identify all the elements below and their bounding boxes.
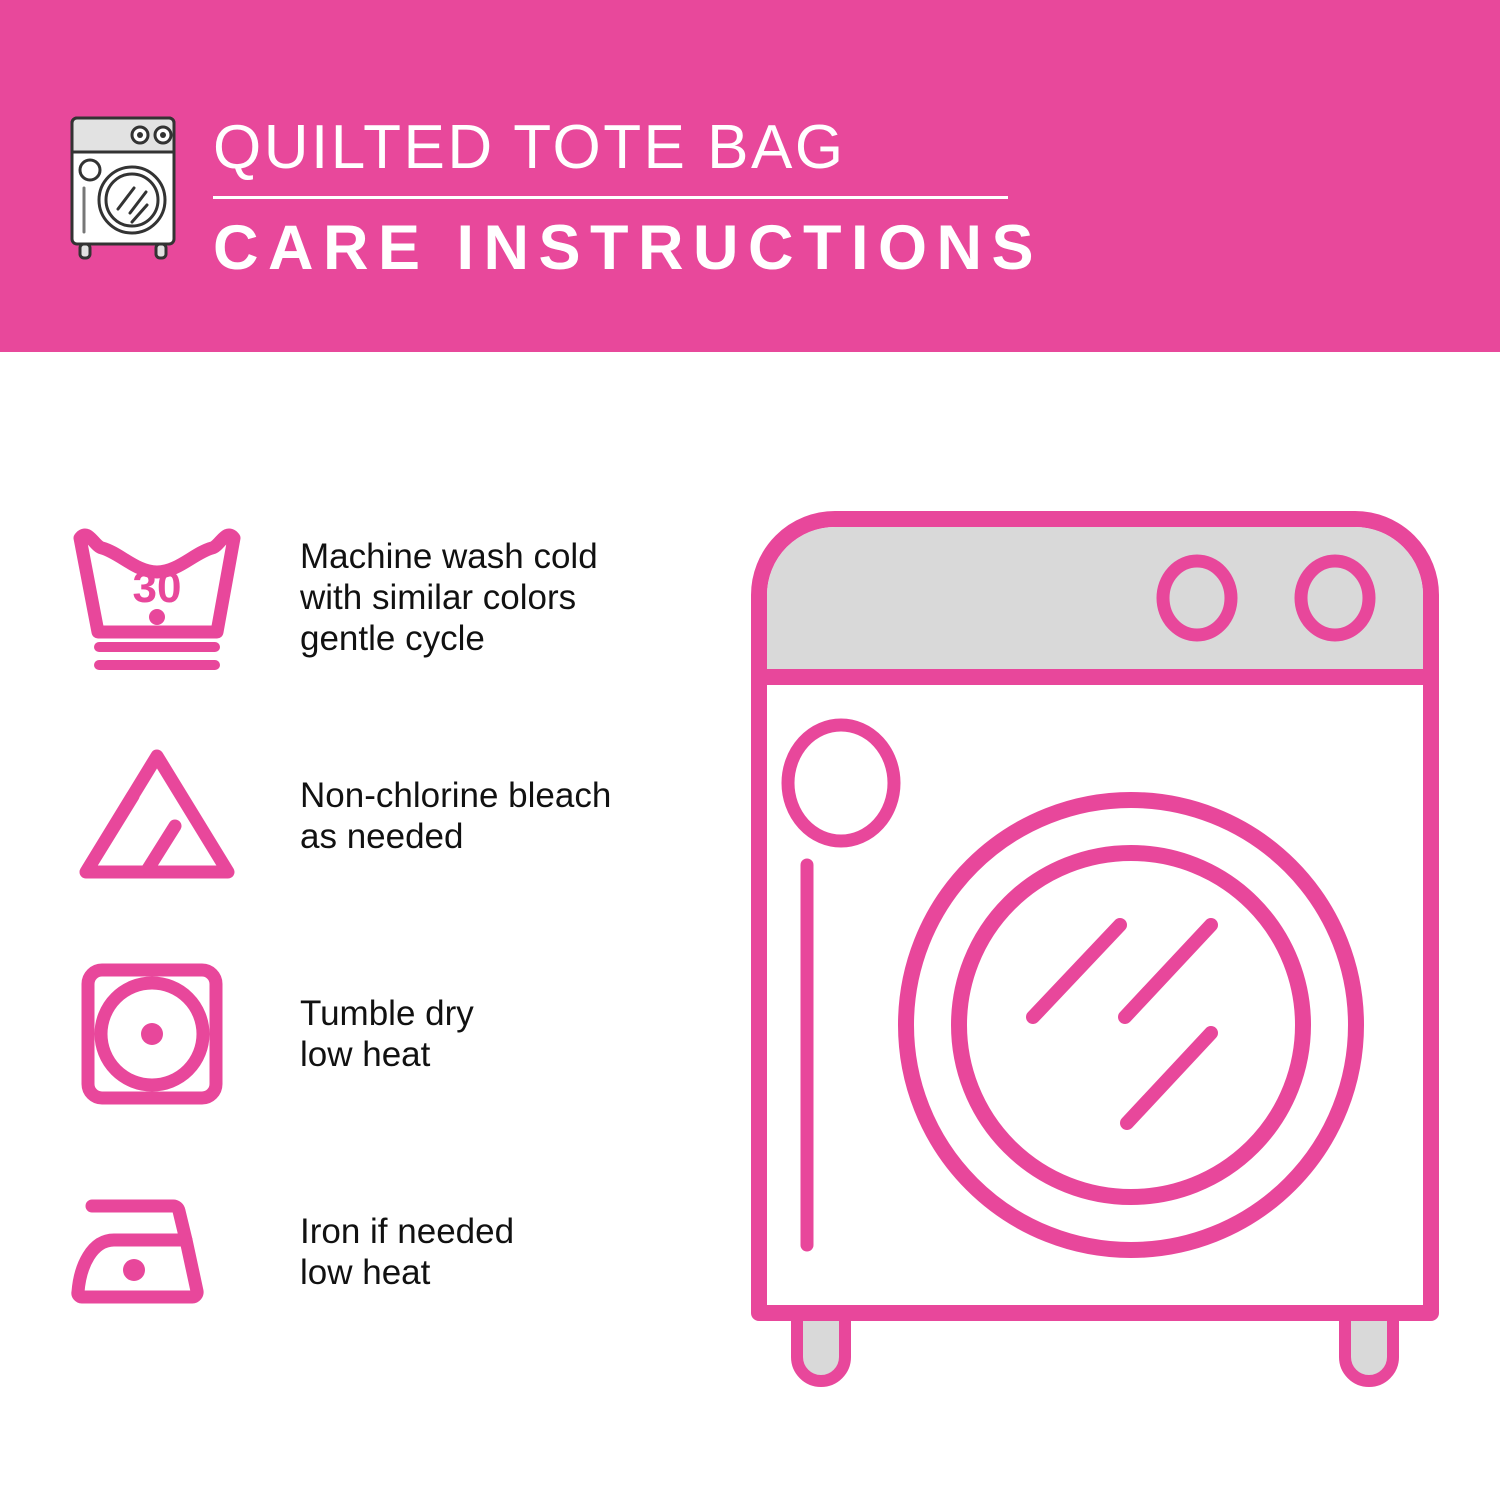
instruction-line: Machine wash cold <box>300 536 598 577</box>
title-divider <box>213 196 1008 199</box>
instruction-item-tumble-dry: Tumble dry low heat <box>70 941 710 1126</box>
instruction-label-bleach: Non-chlorine bleach as needed <box>250 775 611 857</box>
iron-low-heat-icon <box>70 1164 250 1339</box>
instruction-line: Iron if needed <box>300 1211 514 1252</box>
instruction-label-tumble-dry: Tumble dry low heat <box>250 993 474 1075</box>
instruction-label-wash: Machine wash cold with similar colors ge… <box>250 536 598 659</box>
instruction-item-wash: 30 Machine wash cold with similar colors… <box>70 505 710 690</box>
bleach-triangle-non-chlorine-icon <box>70 728 250 903</box>
page-title: QUILTED TOTE BAG <box>213 112 1023 184</box>
header-banner: QUILTED TOTE BAG CARE INSTRUCTIONS <box>0 0 1500 352</box>
instruction-item-iron: Iron if needed low heat <box>70 1159 710 1344</box>
instruction-line: as needed <box>300 816 611 857</box>
front-load-washing-machine-illustration <box>745 505 1445 1415</box>
instruction-line: low heat <box>300 1034 474 1075</box>
washing-machine-logo-icon <box>62 108 194 260</box>
instruction-line: gentle cycle <box>300 618 598 659</box>
care-instructions-list: 30 Machine wash cold with similar colors… <box>70 505 710 1344</box>
instruction-line: Non-chlorine bleach <box>300 775 611 816</box>
instruction-line: Tumble dry <box>300 993 474 1034</box>
instruction-label-iron: Iron if needed low heat <box>250 1211 514 1293</box>
instruction-line: with similar colors <box>300 577 598 618</box>
wash-tub-30-gentle-icon: 30 <box>70 510 250 685</box>
header-text-block: QUILTED TOTE BAG CARE INSTRUCTIONS <box>213 112 1023 283</box>
instruction-item-bleach: Non-chlorine bleach as needed <box>70 723 710 908</box>
instruction-line: low heat <box>300 1252 514 1293</box>
page-subtitle: CARE INSTRUCTIONS <box>213 213 1023 283</box>
machine-control-panel <box>767 527 1423 677</box>
tumble-dry-low-heat-icon <box>70 946 250 1121</box>
care-instructions-page: QUILTED TOTE BAG CARE INSTRUCTIONS 30 <box>0 0 1500 1500</box>
wash-temperature-value: 30 <box>133 563 182 612</box>
